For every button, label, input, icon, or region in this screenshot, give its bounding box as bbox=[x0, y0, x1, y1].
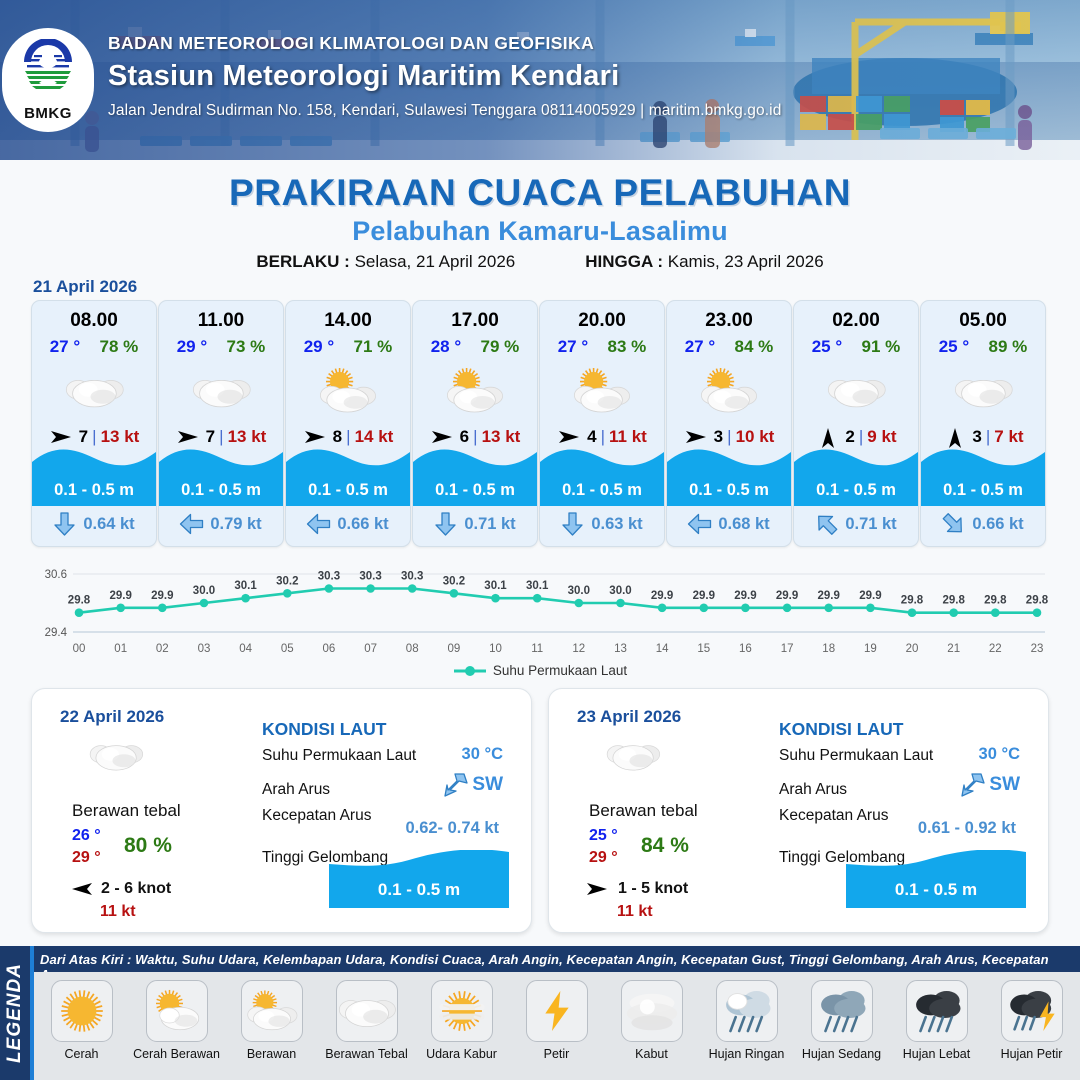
station-name: Stasiun Meteorologi Maritim Kendari bbox=[108, 60, 781, 93]
card-wind-speed: 14 kt bbox=[355, 427, 394, 447]
sun-cloud-multi-icon bbox=[242, 988, 302, 1034]
card-time: 11.00 bbox=[159, 310, 283, 332]
legend-item: Berawan bbox=[224, 980, 319, 1061]
panel-gust: 11 kt bbox=[100, 903, 136, 921]
hourly-forecast-card: 05.00 25 ° 89 % 3 | 7 kt 0.1 - 0.5 m bbox=[920, 300, 1046, 547]
hourly-forecast-card: 02.00 25 ° 91 % 2 | 9 kt 0.1 - 0.5 m bbox=[793, 300, 919, 547]
card-time: 02.00 bbox=[794, 310, 918, 332]
svg-text:06: 06 bbox=[323, 643, 336, 655]
card-wind-speed: 11 kt bbox=[609, 427, 647, 447]
card-wind-separator: | bbox=[473, 427, 477, 447]
svg-text:29.9: 29.9 bbox=[693, 590, 715, 602]
fog-icon bbox=[623, 988, 681, 1033]
wave-shape bbox=[159, 446, 283, 474]
svg-text:29.8: 29.8 bbox=[901, 595, 924, 607]
card-wind: 6 | 13 kt bbox=[413, 427, 537, 447]
card-time: 20.00 bbox=[540, 310, 664, 332]
current-direction-arrow-icon bbox=[434, 512, 457, 536]
rain-icon bbox=[720, 984, 774, 1038]
card-wave-block: 0.1 - 0.5 m bbox=[159, 446, 283, 506]
card-weather-icon bbox=[921, 361, 1045, 421]
svg-text:12: 12 bbox=[572, 643, 585, 655]
current-direction-arrow-icon bbox=[53, 512, 76, 536]
svg-text:29.8: 29.8 bbox=[68, 595, 91, 607]
current-direction-arrow-icon bbox=[688, 513, 712, 536]
card-current: 0.79 kt bbox=[159, 508, 283, 540]
legend-item: Udara Kabur bbox=[414, 980, 509, 1061]
card-weather-icon bbox=[540, 361, 664, 421]
wind-direction-arrow-icon bbox=[557, 427, 583, 447]
card-wind-degree: 7 bbox=[79, 427, 88, 447]
card-wind-degree: 2 bbox=[845, 427, 854, 447]
panel-wave-height: 0.1 - 0.5 m bbox=[895, 880, 977, 900]
lightning-icon bbox=[532, 986, 582, 1036]
header-text-block: BADAN METEOROLOGI KLIMATOLOGI DAN GEOFIS… bbox=[108, 33, 781, 120]
card-wave-height: 0.1 - 0.5 m bbox=[181, 481, 261, 500]
card-wind-separator: | bbox=[986, 427, 990, 447]
page-title: PRAKIRAAN CUACA PELABUHAN bbox=[0, 172, 1080, 214]
card-humidity: 78 % bbox=[100, 337, 139, 357]
sun-cloud-multi-icon bbox=[441, 368, 508, 414]
current-direction-arrow-icon bbox=[937, 507, 970, 540]
card-humidity: 73 % bbox=[227, 337, 266, 357]
panel-sst-value: 30 °C bbox=[462, 745, 503, 764]
panel-sea-title: KONDISI LAUT bbox=[262, 719, 386, 740]
card-current-speed: 0.68 kt bbox=[718, 515, 769, 534]
svg-text:14: 14 bbox=[656, 643, 669, 655]
legend-item-label: Petir bbox=[509, 1047, 604, 1061]
card-wind: 3 | 7 kt bbox=[921, 427, 1045, 447]
station-address: Jalan Jendral Sudirman No. 158, Kendari,… bbox=[108, 102, 781, 120]
card-wind: 2 | 9 kt bbox=[794, 427, 918, 447]
card-wind-degree: 8 bbox=[333, 427, 342, 447]
wave-shape bbox=[413, 446, 537, 474]
card-current: 0.71 kt bbox=[413, 508, 537, 540]
legend-item-icon bbox=[621, 980, 683, 1042]
card-wind-degree: 6 bbox=[460, 427, 469, 447]
card-wind: 7 | 13 kt bbox=[32, 427, 156, 447]
panel-temp-min: 26 ° bbox=[72, 827, 101, 845]
card-wave-block: 0.1 - 0.5 m bbox=[286, 446, 410, 506]
southwest-arrow-icon bbox=[439, 771, 469, 799]
cloud-icon bbox=[191, 371, 252, 412]
svg-text:30.3: 30.3 bbox=[359, 571, 381, 583]
daily-forecast-panels: 22 April 2026 Berawan tebal 26 ° 29 ° 80… bbox=[31, 688, 1049, 933]
panel-condition: Berawan tebal bbox=[589, 801, 698, 821]
panel-label-current-dir: Arah Arus bbox=[262, 781, 330, 799]
wind-direction-arrow-icon bbox=[303, 427, 329, 447]
card-wave-block: 0.1 - 0.5 m bbox=[32, 446, 156, 506]
legend-side-label-wrap: LEGENDA bbox=[0, 946, 30, 1080]
card-current: 0.66 kt bbox=[286, 508, 410, 540]
card-weather-icon bbox=[794, 361, 918, 421]
card-current-speed: 0.79 kt bbox=[210, 515, 261, 534]
hourly-forecast-row: 08.00 27 ° 78 % 7 | 13 kt 0.1 - 0.5 m bbox=[31, 300, 1049, 547]
legend-item-icon bbox=[526, 980, 588, 1042]
panel-current-speed-value: 0.62- 0.74 kt bbox=[405, 819, 499, 838]
legend-item-label: Udara Kabur bbox=[414, 1047, 509, 1061]
svg-text:29.8: 29.8 bbox=[984, 595, 1007, 607]
svg-text:30.0: 30.0 bbox=[609, 585, 631, 597]
current-direction-arrow-icon bbox=[307, 513, 331, 536]
svg-text:29.9: 29.9 bbox=[776, 590, 798, 602]
svg-text:01: 01 bbox=[114, 643, 127, 655]
cloud-icon bbox=[826, 371, 887, 412]
legend-item: Hujan Sedang bbox=[794, 980, 889, 1061]
legend-item-icon bbox=[336, 980, 398, 1042]
legend-item-icon bbox=[906, 980, 968, 1042]
wind-direction-arrow-icon bbox=[49, 427, 75, 447]
svg-text:30.1: 30.1 bbox=[526, 580, 549, 592]
panel-date: 23 April 2026 bbox=[577, 707, 681, 727]
card-temperature: 29 ° bbox=[177, 337, 207, 357]
svg-text:10: 10 bbox=[489, 643, 502, 655]
sst-chart: 30.629.429.80029.90129.90230.00330.10430… bbox=[31, 560, 1049, 670]
card-current-speed: 0.63 kt bbox=[591, 515, 642, 534]
svg-text:30.6: 30.6 bbox=[45, 569, 67, 581]
bmkg-logo: BMKG bbox=[2, 28, 94, 132]
hourly-forecast-card: 11.00 29 ° 73 % 7 | 13 kt 0.1 - 0.5 m bbox=[158, 300, 284, 547]
svg-text:20: 20 bbox=[906, 643, 919, 655]
card-humidity: 71 % bbox=[354, 337, 393, 357]
card-current: 0.68 kt bbox=[667, 508, 791, 540]
legend-item-icon bbox=[241, 980, 303, 1042]
card-temperature: 27 ° bbox=[50, 337, 80, 357]
card-wave-height: 0.1 - 0.5 m bbox=[308, 481, 388, 500]
card-wind-speed: 13 kt bbox=[101, 427, 140, 447]
panel-gust: 11 kt bbox=[617, 903, 653, 921]
card-wave-height: 0.1 - 0.5 m bbox=[943, 481, 1023, 500]
legend-item: Cerah Berawan bbox=[129, 980, 224, 1061]
sun-cloud-multi-icon bbox=[695, 368, 762, 414]
panel-wind: 2 - 6 knot bbox=[68, 879, 171, 899]
svg-text:29.9: 29.9 bbox=[110, 590, 132, 602]
panel-wind: 1 - 5 knot bbox=[585, 879, 688, 899]
current-direction-arrow-icon bbox=[180, 513, 204, 536]
legend-item: Hujan Petir bbox=[984, 980, 1079, 1061]
card-wind-degree: 7 bbox=[206, 427, 215, 447]
panel-label-current-dir: Arah Arus bbox=[779, 781, 847, 799]
svg-text:30.1: 30.1 bbox=[484, 580, 507, 592]
chart-legend: Suhu Permukaan Laut bbox=[0, 663, 1080, 678]
svg-text:11: 11 bbox=[531, 643, 543, 655]
card-wind-speed: 9 kt bbox=[867, 427, 896, 447]
panel-humidity: 84 % bbox=[641, 834, 689, 858]
panel-temp-min: 25 ° bbox=[589, 827, 618, 845]
rain-icon bbox=[815, 984, 869, 1038]
wind-direction-arrow-icon bbox=[585, 879, 611, 899]
svg-text:30.3: 30.3 bbox=[401, 571, 423, 583]
wind-direction-arrow-icon bbox=[430, 427, 456, 447]
svg-text:00: 00 bbox=[73, 643, 86, 655]
legend-item-icon bbox=[51, 980, 113, 1042]
card-humidity: 84 % bbox=[735, 337, 774, 357]
cloud-icon bbox=[337, 991, 397, 1032]
card-wind-speed: 13 kt bbox=[228, 427, 267, 447]
valid-from-label: BERLAKU : bbox=[256, 252, 350, 271]
panel-wind-range: 2 - 6 knot bbox=[101, 880, 171, 898]
card-wave-block: 0.1 - 0.5 m bbox=[413, 446, 537, 506]
panel-current-direction: SW bbox=[956, 771, 1020, 799]
wave-shape bbox=[286, 446, 410, 474]
card-time: 23.00 bbox=[667, 310, 791, 332]
svg-text:23: 23 bbox=[1031, 643, 1044, 655]
cloud-icon bbox=[88, 737, 144, 774]
legend-item-label: Hujan Petir bbox=[984, 1047, 1079, 1061]
card-current-speed: 0.64 kt bbox=[83, 515, 134, 534]
valid-from: BERLAKU : Selasa, 21 April 2026 bbox=[256, 252, 515, 272]
panel-label-sst: Suhu Permukaan Laut bbox=[262, 747, 416, 765]
hourly-forecast-card: 08.00 27 ° 78 % 7 | 13 kt 0.1 - 0.5 m bbox=[31, 300, 157, 547]
svg-text:30.0: 30.0 bbox=[568, 585, 590, 597]
svg-text:30.3: 30.3 bbox=[318, 571, 340, 583]
legend-item-icon bbox=[1001, 980, 1063, 1042]
card-wind-degree: 4 bbox=[587, 427, 596, 447]
bmkg-emblem-icon bbox=[15, 39, 81, 99]
agency-name: BADAN METEOROLOGI KLIMATOLOGI DAN GEOFIS… bbox=[108, 33, 781, 54]
card-weather-icon bbox=[159, 361, 283, 421]
panel-wave-height: 0.1 - 0.5 m bbox=[378, 880, 460, 900]
legend-item-label: Cerah Berawan bbox=[129, 1047, 224, 1061]
svg-text:30.1: 30.1 bbox=[234, 580, 257, 592]
card-current: 0.64 kt bbox=[32, 508, 156, 540]
legend-item-icon bbox=[431, 980, 493, 1042]
cloud-icon bbox=[605, 737, 661, 774]
card-temperature: 28 ° bbox=[431, 337, 461, 357]
card-time: 14.00 bbox=[286, 310, 410, 332]
wave-shape bbox=[794, 446, 918, 474]
sun-cloud-icon bbox=[147, 988, 207, 1034]
page-subtitle: Pelabuhan Kamaru-Lasalimu bbox=[0, 216, 1080, 247]
legend-item-icon bbox=[146, 980, 208, 1042]
sun-icon bbox=[58, 987, 106, 1035]
card-weather-icon bbox=[413, 361, 537, 421]
legend-item: Kabut bbox=[604, 980, 699, 1061]
card-wind: 7 | 13 kt bbox=[159, 427, 283, 447]
legend-item-label: Cerah bbox=[34, 1047, 129, 1061]
legend-icon-list: Cerah Cerah Berawan Berawan bbox=[34, 972, 1080, 1080]
valid-until-label: HINGGA : bbox=[585, 252, 663, 271]
validity-row: BERLAKU : Selasa, 21 April 2026 HINGGA :… bbox=[0, 252, 1080, 272]
legend-item-label: Hujan Lebat bbox=[889, 1047, 984, 1061]
card-temperature: 27 ° bbox=[685, 337, 715, 357]
card-weather-icon bbox=[667, 361, 791, 421]
panel-weather-icon bbox=[605, 737, 661, 779]
card-wind-degree: 3 bbox=[714, 427, 723, 447]
legend-side-label: LEGENDA bbox=[4, 963, 26, 1063]
svg-text:16: 16 bbox=[739, 643, 752, 655]
legend-item-label: Berawan bbox=[224, 1047, 319, 1061]
card-wave-height: 0.1 - 0.5 m bbox=[435, 481, 515, 500]
panel-wave-block: 0.1 - 0.5 m bbox=[846, 850, 1026, 908]
card-wind-separator: | bbox=[219, 427, 223, 447]
cloud-icon bbox=[64, 371, 125, 412]
card-wave-height: 0.1 - 0.5 m bbox=[816, 481, 896, 500]
card-current: 0.66 kt bbox=[921, 508, 1045, 540]
svg-text:13: 13 bbox=[614, 643, 627, 655]
logo-label: BMKG bbox=[11, 105, 85, 122]
wave-shape bbox=[32, 446, 156, 474]
card-humidity: 89 % bbox=[989, 337, 1028, 357]
legend-item-icon bbox=[716, 980, 778, 1042]
svg-text:29.4: 29.4 bbox=[45, 627, 68, 639]
chart-legend-label: Suhu Permukaan Laut bbox=[493, 663, 627, 678]
legend-strip: LEGENDA Dari Atas Kiri : Waktu, Suhu Uda… bbox=[0, 946, 1080, 1080]
panel-sea-title: KONDISI LAUT bbox=[779, 719, 903, 740]
panel-wave-block: 0.1 - 0.5 m bbox=[329, 850, 509, 908]
svg-text:29.8: 29.8 bbox=[943, 595, 966, 607]
card-wind-degree: 3 bbox=[972, 427, 981, 447]
svg-text:02: 02 bbox=[156, 643, 169, 655]
card-temperature: 29 ° bbox=[304, 337, 334, 357]
card-time: 08.00 bbox=[32, 310, 156, 332]
svg-text:30.2: 30.2 bbox=[443, 575, 465, 587]
card-wind-separator: | bbox=[859, 427, 863, 447]
card-wind: 4 | 11 kt bbox=[540, 427, 664, 447]
card-current-speed: 0.66 kt bbox=[337, 515, 388, 534]
card-wave-height: 0.1 - 0.5 m bbox=[54, 481, 134, 500]
panel-label-current-speed: Kecepatan Arus bbox=[262, 807, 371, 825]
legend-item: Hujan Lebat bbox=[889, 980, 984, 1061]
card-wind: 3 | 10 kt bbox=[667, 427, 791, 447]
legend-item: Petir bbox=[509, 980, 604, 1061]
legend-item-label: Kabut bbox=[604, 1047, 699, 1061]
card-humidity: 79 % bbox=[481, 337, 520, 357]
legend-item-label: Hujan Ringan bbox=[699, 1047, 794, 1061]
card-current: 0.63 kt bbox=[540, 508, 664, 540]
panel-wind-range: 1 - 5 knot bbox=[618, 880, 688, 898]
current-direction-arrow-icon bbox=[561, 512, 584, 536]
svg-text:18: 18 bbox=[822, 643, 835, 655]
svg-text:19: 19 bbox=[864, 643, 877, 655]
card-time: 17.00 bbox=[413, 310, 537, 332]
panel-temp-max: 29 ° bbox=[72, 849, 101, 867]
card-wind-separator: | bbox=[92, 427, 96, 447]
svg-text:22: 22 bbox=[989, 643, 1002, 655]
panel-temp-max: 29 ° bbox=[589, 849, 618, 867]
wind-direction-arrow-icon bbox=[68, 879, 94, 899]
sun-cloud-multi-icon bbox=[314, 368, 381, 414]
legend-item-label: Hujan Sedang bbox=[794, 1047, 889, 1061]
card-time: 05.00 bbox=[921, 310, 1045, 332]
header-banner: BMKG BADAN METEOROLOGI KLIMATOLOGI DAN G… bbox=[0, 0, 1080, 160]
panel-current-direction-value: SW bbox=[472, 774, 503, 796]
svg-text:29.8: 29.8 bbox=[1026, 595, 1049, 607]
card-wave-block: 0.1 - 0.5 m bbox=[667, 446, 791, 506]
daily-forecast-panel: 23 April 2026 Berawan tebal 25 ° 29 ° 84… bbox=[548, 688, 1049, 933]
legend-item: Hujan Ringan bbox=[699, 980, 794, 1061]
svg-text:17: 17 bbox=[781, 643, 794, 655]
card-current-speed: 0.66 kt bbox=[972, 515, 1023, 534]
card-temperature: 25 ° bbox=[939, 337, 969, 357]
card-wind-separator: | bbox=[727, 427, 731, 447]
card-humidity: 91 % bbox=[862, 337, 901, 357]
legend-item-label: Berawan Tebal bbox=[319, 1047, 414, 1061]
card-wave-block: 0.1 - 0.5 m bbox=[794, 446, 918, 506]
wave-shape bbox=[921, 446, 1045, 474]
svg-text:07: 07 bbox=[364, 643, 377, 655]
cloud-icon bbox=[953, 371, 1014, 412]
svg-text:04: 04 bbox=[239, 643, 252, 655]
valid-until: HINGGA : Kamis, 23 April 2026 bbox=[585, 252, 823, 272]
svg-text:15: 15 bbox=[697, 643, 710, 655]
card-wind-speed: 13 kt bbox=[482, 427, 521, 447]
wave-shape bbox=[540, 446, 664, 474]
panel-condition: Berawan tebal bbox=[72, 801, 181, 821]
panel-weather-icon bbox=[88, 737, 144, 779]
hourly-forecast-card: 17.00 28 ° 79 % 6 | 13 kt 0.1 - 0.5 bbox=[412, 300, 538, 547]
valid-from-value: Selasa, 21 April 2026 bbox=[355, 252, 516, 271]
card-weather-icon bbox=[286, 361, 410, 421]
svg-text:29.9: 29.9 bbox=[818, 590, 840, 602]
svg-text:03: 03 bbox=[198, 643, 211, 655]
card-wind: 8 | 14 kt bbox=[286, 427, 410, 447]
legend-item: Berawan Tebal bbox=[319, 980, 414, 1061]
card-temperature: 25 ° bbox=[812, 337, 842, 357]
forecast-date-label: 21 April 2026 bbox=[33, 277, 137, 297]
panel-label-current-speed: Kecepatan Arus bbox=[779, 807, 888, 825]
hourly-forecast-card: 23.00 27 ° 84 % 3 | 10 kt 0.1 - 0.5 bbox=[666, 300, 792, 547]
wave-shape bbox=[329, 850, 509, 872]
sun-cloud-multi-icon bbox=[568, 368, 635, 414]
valid-until-value: Kamis, 23 April 2026 bbox=[668, 252, 824, 271]
panel-sst-value: 30 °C bbox=[979, 745, 1020, 764]
card-temperature: 27 ° bbox=[558, 337, 588, 357]
card-humidity: 83 % bbox=[608, 337, 647, 357]
wave-shape bbox=[667, 446, 791, 474]
hourly-forecast-card: 14.00 29 ° 71 % 8 | 14 kt 0.1 - 0.5 bbox=[285, 300, 411, 547]
legend-item-icon bbox=[811, 980, 873, 1042]
panel-current-direction-value: SW bbox=[989, 774, 1020, 796]
rain-icon bbox=[910, 984, 964, 1038]
legend-item: Cerah bbox=[34, 980, 129, 1061]
panel-current-direction: SW bbox=[439, 771, 503, 799]
svg-text:05: 05 bbox=[281, 643, 294, 655]
card-wave-block: 0.1 - 0.5 m bbox=[921, 446, 1045, 506]
card-wind-speed: 7 kt bbox=[994, 427, 1023, 447]
hourly-forecast-card: 20.00 27 ° 83 % 4 | 11 kt 0.1 - 0.5 bbox=[539, 300, 665, 547]
thunderstorm-icon bbox=[1005, 984, 1059, 1038]
card-wind-speed: 10 kt bbox=[736, 427, 775, 447]
card-current-speed: 0.71 kt bbox=[464, 515, 515, 534]
svg-text:30.2: 30.2 bbox=[276, 575, 298, 587]
svg-text:29.9: 29.9 bbox=[859, 590, 881, 602]
card-wave-height: 0.1 - 0.5 m bbox=[562, 481, 642, 500]
svg-text:29.9: 29.9 bbox=[151, 590, 173, 602]
svg-text:29.9: 29.9 bbox=[734, 590, 756, 602]
card-wind-separator: | bbox=[346, 427, 350, 447]
wind-direction-arrow-icon bbox=[176, 427, 202, 447]
haze-icon bbox=[436, 985, 488, 1037]
wind-direction-arrow-icon bbox=[684, 427, 710, 447]
svg-text:30.0: 30.0 bbox=[193, 585, 215, 597]
svg-text:21: 21 bbox=[947, 643, 960, 655]
panel-date: 22 April 2026 bbox=[60, 707, 164, 727]
card-weather-icon bbox=[32, 361, 156, 421]
panel-label-sst: Suhu Permukaan Laut bbox=[779, 747, 933, 765]
card-wave-block: 0.1 - 0.5 m bbox=[540, 446, 664, 506]
legend-marker-icon bbox=[453, 665, 487, 677]
daily-forecast-panel: 22 April 2026 Berawan tebal 26 ° 29 ° 80… bbox=[31, 688, 532, 933]
panel-current-speed-value: 0.61 - 0.92 kt bbox=[918, 819, 1016, 838]
card-wave-height: 0.1 - 0.5 m bbox=[689, 481, 769, 500]
svg-text:09: 09 bbox=[448, 643, 461, 655]
panel-humidity: 80 % bbox=[124, 834, 172, 858]
svg-text:29.9: 29.9 bbox=[651, 590, 673, 602]
card-wind-separator: | bbox=[601, 427, 605, 447]
wave-shape bbox=[846, 850, 1026, 872]
card-current-speed: 0.71 kt bbox=[845, 515, 896, 534]
